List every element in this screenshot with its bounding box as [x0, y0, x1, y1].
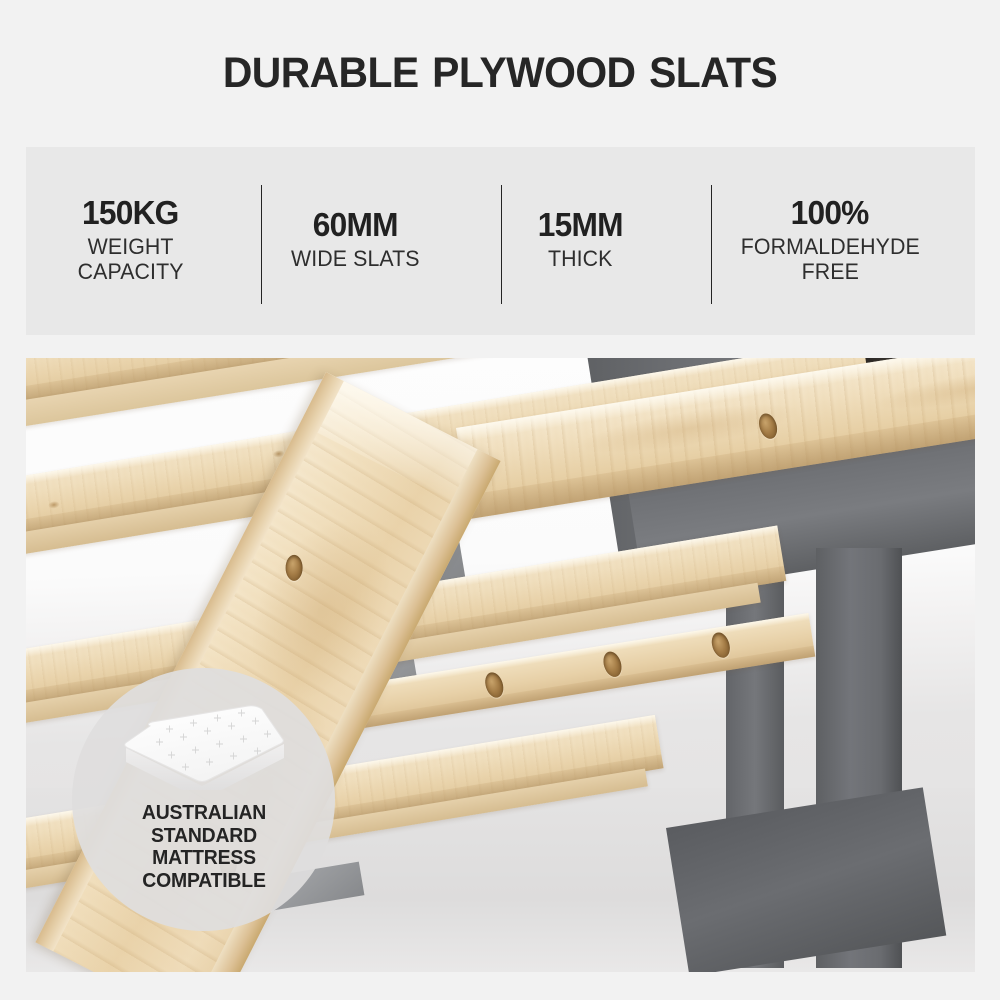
feature-value: 150KG [82, 195, 179, 231]
page-title: DURABLE PLYWOOD SLATS [25, 48, 975, 98]
feature-label-line2: CAPACITY [78, 259, 184, 284]
feature-bar: 150KG WEIGHT CAPACITY 60MM WIDE SLATS 15… [26, 147, 975, 335]
feature-label-line1: WIDE SLATS [291, 246, 420, 271]
feature-label-line1: THICK [548, 246, 613, 271]
feature-value: 15MM [538, 207, 623, 243]
feature-divider [501, 185, 502, 304]
feature-label-line2: FREE [740, 259, 919, 284]
product-feature-graphic: DURABLE PLYWOOD SLATS 150KG WEIGHT CAPAC… [0, 0, 1000, 1000]
feature-value: 100% [791, 195, 869, 231]
feature-label: FORMALDEHYDE FREE [740, 234, 919, 284]
feature-item-formaldehyde-free: 100% FORMALDEHYDE FREE [685, 147, 975, 335]
feature-divider [261, 185, 262, 304]
feature-item-weight-capacity: 150KG WEIGHT CAPACITY [26, 147, 235, 335]
feature-label-line1: WEIGHT [78, 234, 184, 259]
feature-label: WIDE SLATS [291, 246, 420, 271]
feature-value: 60MM [313, 207, 398, 243]
feature-label: WEIGHT CAPACITY [78, 234, 184, 284]
feature-label-line1: FORMALDEHYDE [740, 234, 919, 259]
badge-line-2: STANDARD [141, 825, 265, 848]
feature-item-thickness: 15MM THICK [475, 147, 685, 335]
badge-text: AUSTRALIAN STANDARD MATTRESS COMPATIBLE [141, 802, 265, 892]
badge-line-4: COMPATIBLE [141, 870, 265, 893]
feature-label: THICK [548, 246, 613, 271]
feature-divider [711, 185, 712, 304]
badge-line-1: AUSTRALIAN [141, 802, 265, 825]
mattress-icon [116, 698, 292, 790]
product-photo: AUSTRALIAN STANDARD MATTRESS COMPATIBLE [26, 358, 975, 972]
badge-line-3: MATTRESS [141, 847, 265, 870]
feature-item-wide-slats: 60MM WIDE SLATS [235, 147, 475, 335]
compatibility-badge: AUSTRALIAN STANDARD MATTRESS COMPATIBLE [72, 668, 335, 931]
